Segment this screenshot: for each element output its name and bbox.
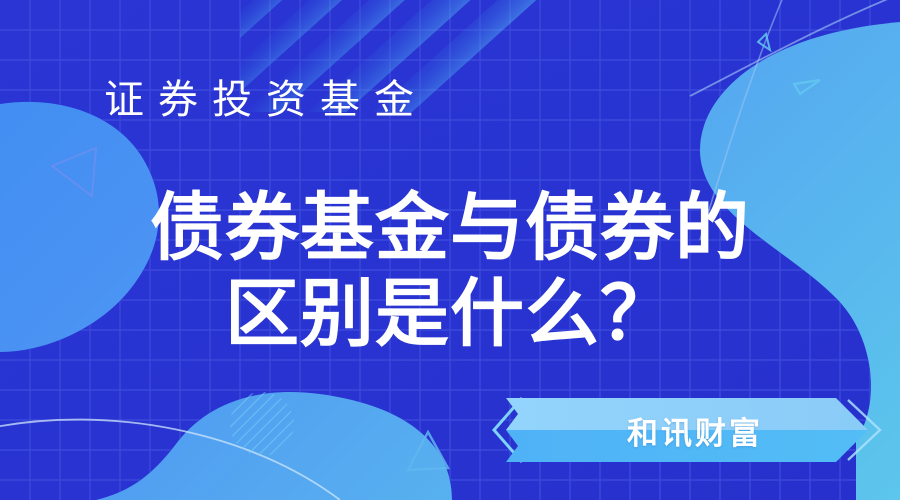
poster-title-line-1: 债券基金与债券的	[0, 184, 900, 272]
poster-title: 债券基金与债券的 区别是什么？	[0, 184, 900, 358]
arc-line-bottom-left	[0, 420, 340, 500]
brand-ribbon: 和讯财富	[488, 396, 900, 464]
hatched-circle	[226, 388, 300, 462]
brand-label: 和讯财富	[570, 396, 820, 464]
triangle-outline-bottom-center	[408, 432, 448, 470]
triangle-outline-top-right	[794, 80, 820, 94]
poster-subtitle: 证券投资基金	[104, 74, 428, 126]
triangle-outline-top-right-small	[758, 34, 770, 50]
poster-title-line-2: 区别是什么？	[0, 270, 900, 358]
poster-canvas: 证券投资基金 债券基金与债券的 区别是什么？	[0, 0, 900, 500]
arc-line-upper	[690, 0, 900, 96]
